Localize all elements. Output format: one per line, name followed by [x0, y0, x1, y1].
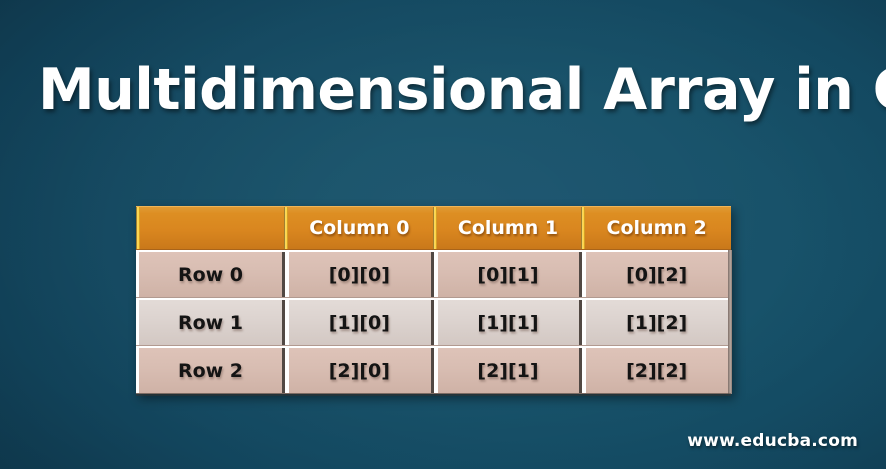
- row-header-1: Row 1: [136, 298, 285, 346]
- table-corner-cell: [136, 206, 285, 250]
- cell-0-0: [0][0]: [285, 250, 434, 298]
- cell-2-0: [2][0]: [285, 346, 434, 394]
- row-header-label: Row 0: [178, 264, 243, 286]
- cell-0-2: [0][2]: [582, 250, 731, 298]
- cell-1-1: [1][1]: [434, 298, 583, 346]
- cell-label: [1][0]: [329, 312, 390, 334]
- table: Column 0 Column 1 Column 2 Row 0 [0][0] …: [136, 206, 731, 394]
- row-header-2: Row 2: [136, 346, 285, 394]
- table-header-row: Column 0 Column 1 Column 2: [136, 206, 731, 250]
- cell-label: [2][1]: [477, 360, 538, 382]
- row-header-label: Row 2: [178, 360, 243, 382]
- cell-2-2: [2][2]: [582, 346, 731, 394]
- cell-1-0: [1][0]: [285, 298, 434, 346]
- table-right-edge: [728, 250, 732, 394]
- row-header-0: Row 0: [136, 250, 285, 298]
- table-body: Row 0 [0][0] [0][1] [0][2] Row 1 [1][0] …: [136, 250, 731, 394]
- column-header-0: Column 0: [285, 206, 434, 250]
- cell-0-1: [0][1]: [434, 250, 583, 298]
- cell-label: [0][2]: [626, 264, 687, 286]
- table-bottom-edge: [136, 393, 731, 396]
- cell-2-1: [2][1]: [434, 346, 583, 394]
- table-head: Column 0 Column 1 Column 2: [136, 206, 731, 250]
- cell-label: [0][1]: [477, 264, 538, 286]
- table-row: Row 2 [2][0] [2][1] [2][2]: [136, 346, 731, 394]
- page-title: Multidimensional Array in C: [38, 52, 858, 128]
- column-header-1: Column 1: [434, 206, 583, 250]
- table-row: Row 1 [1][0] [1][1] [1][2]: [136, 298, 731, 346]
- column-header-2: Column 2: [582, 206, 731, 250]
- cell-1-2: [1][2]: [582, 298, 731, 346]
- cell-label: [2][0]: [329, 360, 390, 382]
- cell-label: [0][0]: [329, 264, 390, 286]
- cell-label: [1][1]: [477, 312, 538, 334]
- cell-label: [2][2]: [626, 360, 687, 382]
- array-index-table: Column 0 Column 1 Column 2 Row 0 [0][0] …: [136, 206, 731, 394]
- cell-label: [1][2]: [626, 312, 687, 334]
- row-header-label: Row 1: [178, 312, 243, 334]
- table-row: Row 0 [0][0] [0][1] [0][2]: [136, 250, 731, 298]
- site-watermark: www.educba.com: [687, 431, 858, 451]
